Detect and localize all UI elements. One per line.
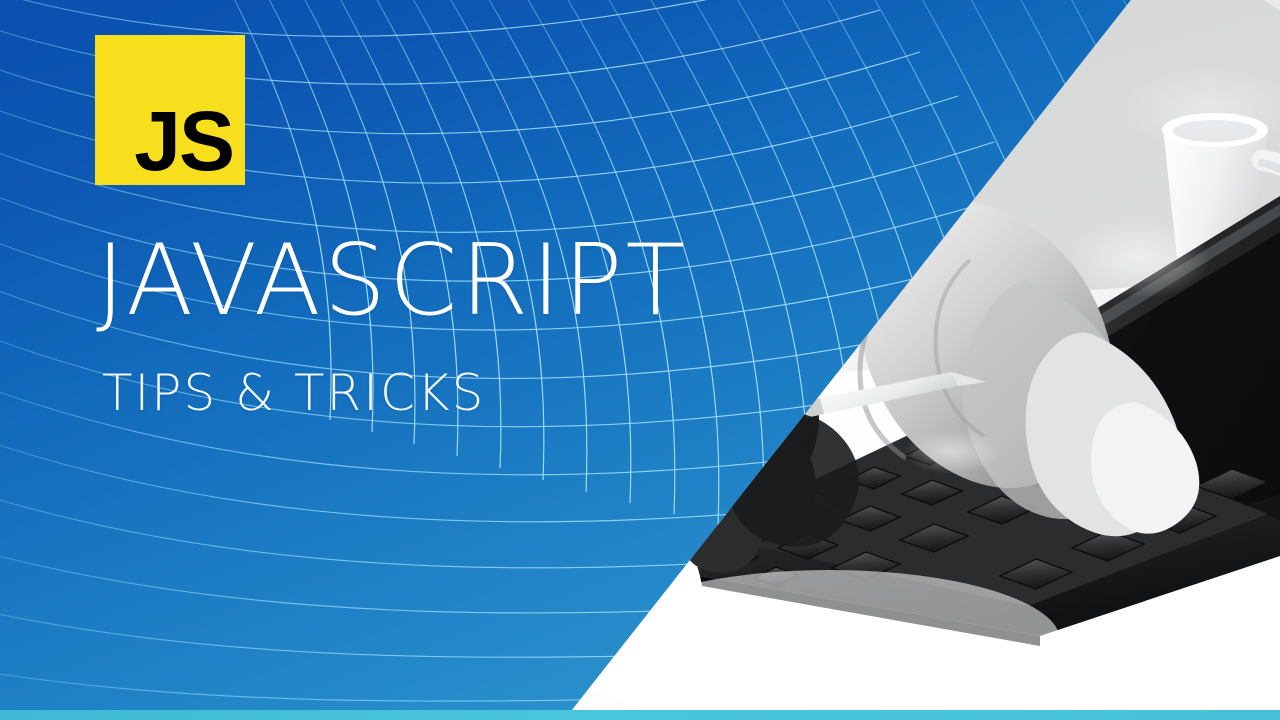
title-block: JAVASCRIPT TIPS & TRICKS [96,232,688,418]
javascript-logo-text: JS [134,99,233,183]
page-title: JAVASCRIPT [96,232,688,330]
javascript-logo: JS [95,35,245,185]
bottom-accent-strip [0,710,1280,720]
slide-canvas: JS JAVASCRIPT TIPS & TRICKS [0,0,1280,720]
page-subtitle: TIPS & TRICKS [102,368,688,418]
